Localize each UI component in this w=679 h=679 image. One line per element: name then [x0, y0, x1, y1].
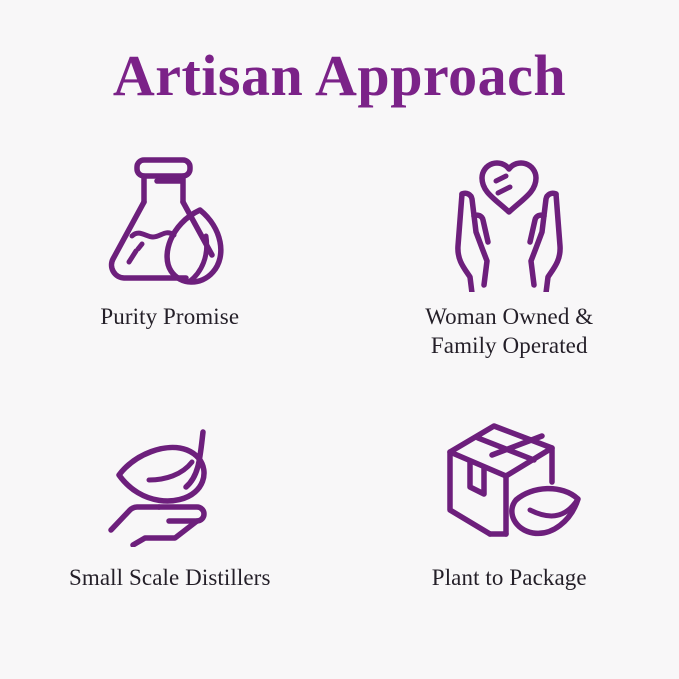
artisan-approach-panel: Artisan Approach	[0, 0, 679, 679]
leaf-over-hand-icon	[95, 422, 245, 547]
feature-item-small-scale-distillers: Small Scale Distillers	[0, 400, 340, 650]
feature-item-plant-to-package: Plant to Package	[340, 400, 679, 650]
feature-label: Small Scale Distillers	[69, 563, 271, 592]
page-title: Artisan Approach	[0, 44, 679, 108]
feature-item-woman-owned: Woman Owned & Family Operated	[340, 150, 679, 400]
feature-item-purity-promise: Purity Promise	[0, 150, 340, 400]
feature-grid: Purity Promise	[0, 150, 679, 650]
hands-holding-heart-icon	[434, 150, 584, 292]
feature-label: Woman Owned & Family Operated	[425, 302, 593, 361]
feature-label: Purity Promise	[100, 302, 239, 331]
flask-leaf-icon	[95, 150, 245, 292]
box-with-leaf-icon	[434, 422, 584, 547]
feature-label: Plant to Package	[432, 563, 587, 592]
